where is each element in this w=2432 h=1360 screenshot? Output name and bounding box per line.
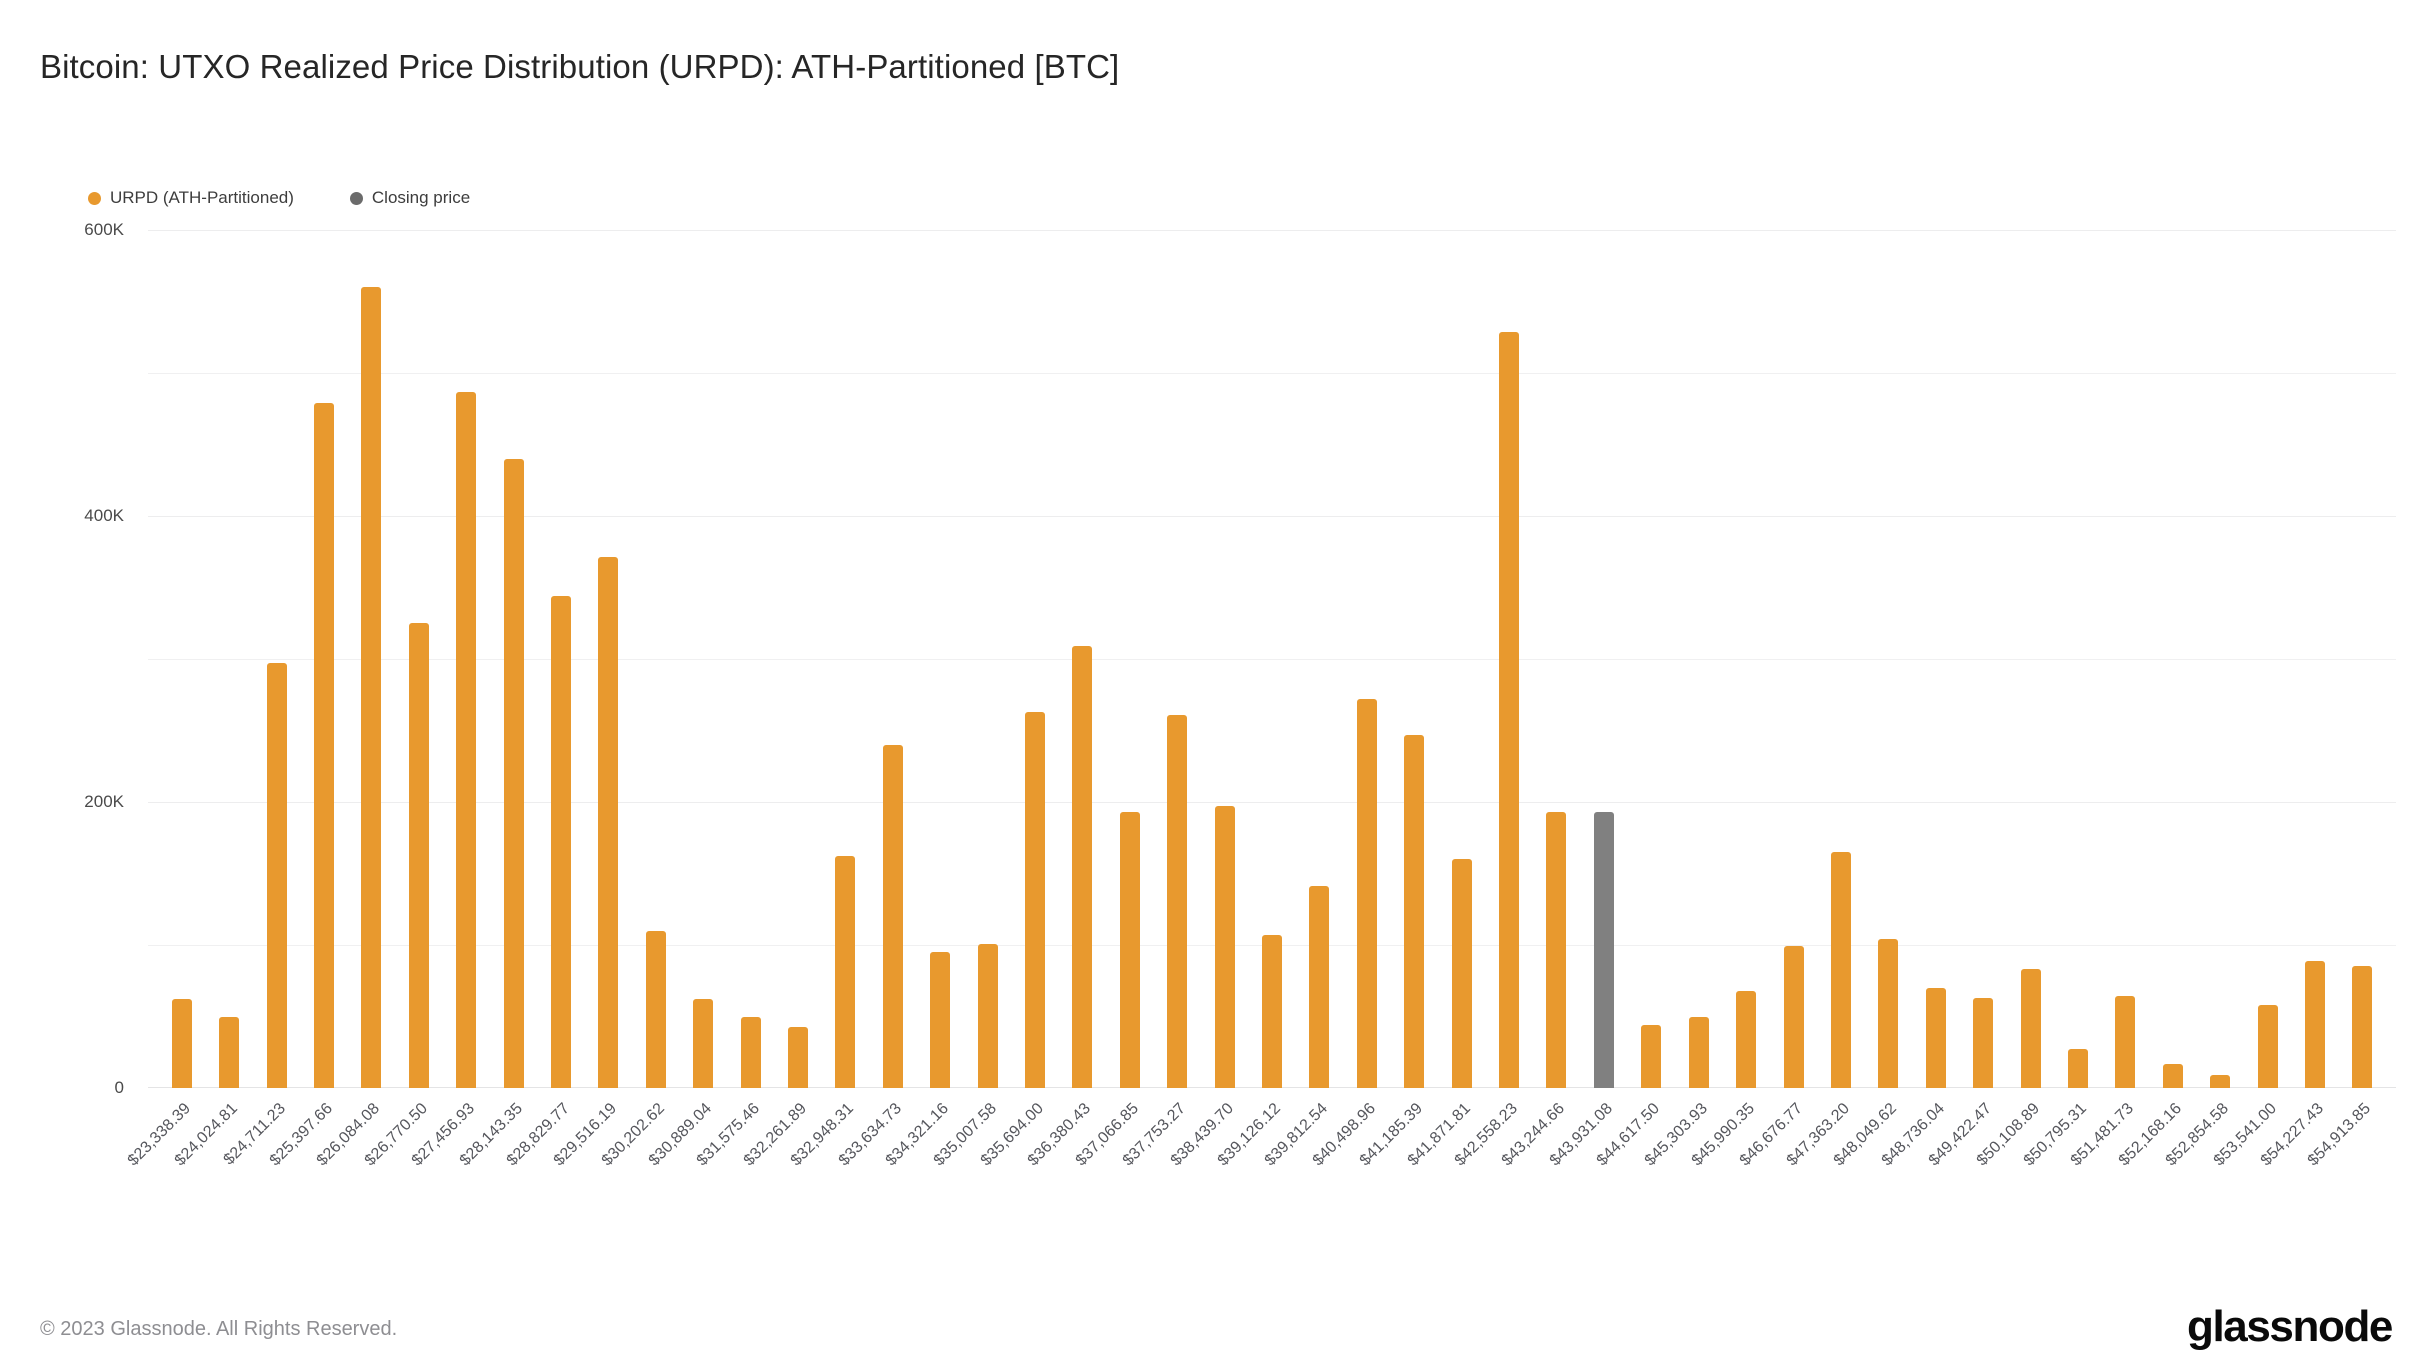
bar-urpd[interactable] [741, 1017, 761, 1089]
bar-slot [1296, 230, 1343, 1088]
bar-urpd[interactable] [409, 623, 429, 1088]
x-axis-tick: $50,108.89 [2007, 1092, 2054, 1312]
x-axis-tick: $39,812.54 [1296, 1092, 1343, 1312]
bar-slot [1343, 230, 1390, 1088]
bar-slot [1817, 230, 1864, 1088]
bar-urpd[interactable] [2352, 966, 2372, 1088]
bar-urpd[interactable] [693, 999, 713, 1088]
bar-slot [300, 230, 347, 1088]
bar-slot [1438, 230, 1485, 1088]
x-axis-tick: $47,363.20 [1817, 1092, 1864, 1312]
bar-urpd[interactable] [2258, 1005, 2278, 1088]
bar-slot [1959, 230, 2006, 1088]
y-axis-tick-label: 0 [115, 1078, 124, 1098]
bar-slot [1912, 230, 1959, 1088]
x-axis-tick: $29,516.19 [585, 1092, 632, 1312]
x-axis-tick: $43,931.08 [1580, 1092, 1627, 1312]
x-axis-tick: $35,007.58 [964, 1092, 1011, 1312]
bar-slot [2102, 230, 2149, 1088]
bar-slot [1201, 230, 1248, 1088]
x-axis-tick: $46,676.77 [1770, 1092, 1817, 1312]
legend-label-closing-price: Closing price [372, 188, 470, 208]
bar-urpd[interactable] [1973, 998, 1993, 1088]
bar-slot [2054, 230, 2101, 1088]
bar-slot [727, 230, 774, 1088]
x-axis-tick: $30,202.62 [632, 1092, 679, 1312]
x-axis-tick: $24,024.81 [205, 1092, 252, 1312]
bar-urpd[interactable] [1784, 946, 1804, 1088]
x-axis-tick: $51,481.73 [2102, 1092, 2149, 1312]
bar-urpd[interactable] [504, 459, 524, 1088]
x-axis-tick: $33,634.73 [869, 1092, 916, 1312]
x-axis-tick: $24,711.23 [253, 1092, 300, 1312]
bar-urpd[interactable] [883, 745, 903, 1088]
bar-urpd[interactable] [1926, 988, 1946, 1088]
x-axis-tick: $25,397.66 [300, 1092, 347, 1312]
bar-slot [442, 230, 489, 1088]
bar-slot [917, 230, 964, 1088]
bar-slot [632, 230, 679, 1088]
x-axis-tick: $48,049.62 [1865, 1092, 1912, 1312]
x-axis-tick: $26,770.50 [395, 1092, 442, 1312]
chart-legend: URPD (ATH-Partitioned) Closing price [88, 188, 470, 208]
bar-urpd[interactable] [456, 392, 476, 1088]
bar-slot [205, 230, 252, 1088]
bar-urpd[interactable] [1167, 715, 1187, 1088]
bar-slot [2149, 230, 2196, 1088]
bar-urpd[interactable] [1689, 1017, 1709, 1089]
bar-slot [1248, 230, 1295, 1088]
page-title: Bitcoin: UTXO Realized Price Distributio… [40, 48, 1119, 86]
legend-label-urpd: URPD (ATH-Partitioned) [110, 188, 294, 208]
x-axis-tick: $43,244.66 [1533, 1092, 1580, 1312]
x-axis-tick: $31,575.46 [727, 1092, 774, 1312]
x-axis-tick: $37,066.85 [1106, 1092, 1153, 1312]
bar-urpd[interactable] [1120, 812, 1140, 1088]
bar-urpd[interactable] [551, 596, 571, 1088]
x-axis-tick: $54,227.43 [2291, 1092, 2338, 1312]
bar-urpd[interactable] [219, 1017, 239, 1089]
bar-slot [1770, 230, 1817, 1088]
bar-closing-price[interactable] [1594, 812, 1614, 1088]
bar-slot [1628, 230, 1675, 1088]
bar-urpd[interactable] [1309, 886, 1329, 1088]
bar-urpd[interactable] [2021, 969, 2041, 1088]
bar-urpd[interactable] [314, 403, 334, 1088]
bar-slot [490, 230, 537, 1088]
bar-slot [1865, 230, 1912, 1088]
x-axis-tick: $26,084.08 [348, 1092, 395, 1312]
bar-slot [158, 230, 205, 1088]
bar-urpd[interactable] [598, 557, 618, 1088]
bar-slot [2291, 230, 2338, 1088]
bar-urpd[interactable] [1736, 991, 1756, 1088]
bar-slot [1391, 230, 1438, 1088]
x-axis-tick: $42,558.23 [1485, 1092, 1532, 1312]
bar-urpd[interactable] [646, 931, 666, 1088]
x-axis-tick: $23,338.39 [158, 1092, 205, 1312]
bar-urpd[interactable] [1404, 735, 1424, 1088]
x-axis-tick: $44,617.50 [1628, 1092, 1675, 1312]
x-axis-tick: $27,456.93 [442, 1092, 489, 1312]
x-axis-tick: $28,143.35 [490, 1092, 537, 1312]
x-axis-tick: $45,303.93 [1675, 1092, 1722, 1312]
bar-urpd[interactable] [1357, 699, 1377, 1088]
bar-slot [2339, 230, 2386, 1088]
bar-series [148, 230, 2396, 1088]
x-axis-tick: $52,854.58 [2196, 1092, 2243, 1312]
bar-urpd[interactable] [1025, 712, 1045, 1088]
bar-urpd[interactable] [1262, 935, 1282, 1088]
x-axis-tick: $48,736.04 [1912, 1092, 1959, 1312]
x-axis-tick: $40,498.96 [1343, 1092, 1390, 1312]
bar-urpd[interactable] [1499, 332, 1519, 1088]
x-axis-tick: $52,168.16 [2149, 1092, 2196, 1312]
bar-urpd[interactable] [1072, 646, 1092, 1088]
bar-urpd[interactable] [2305, 961, 2325, 1088]
bar-urpd[interactable] [1878, 939, 1898, 1088]
bar-slot [1533, 230, 1580, 1088]
bar-urpd[interactable] [1452, 859, 1472, 1088]
bar-urpd[interactable] [2163, 1064, 2183, 1088]
x-axis-tick: $54,913.85 [2339, 1092, 2386, 1312]
y-axis-tick-label: 200K [84, 792, 124, 812]
brand-logo: glassnode [2187, 1302, 2392, 1352]
bar-urpd[interactable] [2068, 1049, 2088, 1088]
bar-urpd[interactable] [788, 1027, 808, 1088]
x-axis-tick: $39,126.12 [1248, 1092, 1295, 1312]
legend-dot-icon [88, 192, 101, 205]
bar-slot [869, 230, 916, 1088]
x-axis-tick: $53,541.00 [2244, 1092, 2291, 1312]
x-axis-tick: $28,829.77 [537, 1092, 584, 1312]
bar-slot [774, 230, 821, 1088]
bar-slot [2196, 230, 2243, 1088]
bar-slot [2244, 230, 2291, 1088]
x-axis: $23,338.39$24,024.81$24,711.23$25,397.66… [148, 1092, 2396, 1312]
x-axis-tick: $38,439.70 [1201, 1092, 1248, 1312]
bar-slot [1580, 230, 1627, 1088]
legend-item-urpd[interactable]: URPD (ATH-Partitioned) [88, 188, 294, 208]
legend-item-closing-price[interactable]: Closing price [350, 188, 470, 208]
x-axis-tick: $30,889.04 [679, 1092, 726, 1312]
x-axis-tick: $50,795.31 [2054, 1092, 2101, 1312]
bar-slot [1011, 230, 1058, 1088]
footer-copyright: © 2023 Glassnode. All Rights Reserved. [40, 1318, 397, 1341]
x-axis-tick: $41,185.39 [1391, 1092, 1438, 1312]
bar-slot [1722, 230, 1769, 1088]
bar-slot [348, 230, 395, 1088]
bar-urpd[interactable] [835, 856, 855, 1088]
x-axis-tick: $45,990.35 [1722, 1092, 1769, 1312]
bar-urpd[interactable] [1641, 1025, 1661, 1088]
x-axis-tick: $32,948.31 [822, 1092, 869, 1312]
bar-slot [1059, 230, 1106, 1088]
x-axis-tick: $34,321.16 [917, 1092, 964, 1312]
x-axis-tick: $32,261.89 [774, 1092, 821, 1312]
y-axis: 0200K400K600K [0, 230, 138, 1088]
x-axis-tick: $36,380.43 [1059, 1092, 1106, 1312]
bar-urpd[interactable] [1831, 852, 1851, 1088]
bar-urpd[interactable] [1546, 812, 1566, 1088]
bar-slot [679, 230, 726, 1088]
x-axis-tick: $35,694.00 [1011, 1092, 1058, 1312]
x-axis-tick: $49,422.47 [1959, 1092, 2006, 1312]
legend-dot-icon [350, 192, 363, 205]
y-axis-tick-label: 600K [84, 220, 124, 240]
bar-slot [822, 230, 869, 1088]
x-axis-tick: $37,753.27 [1154, 1092, 1201, 1312]
bar-urpd[interactable] [930, 952, 950, 1088]
bar-slot [1154, 230, 1201, 1088]
bar-urpd[interactable] [978, 944, 998, 1088]
bar-slot [395, 230, 442, 1088]
bar-urpd[interactable] [2115, 996, 2135, 1088]
bar-slot [1675, 230, 1722, 1088]
bar-slot [585, 230, 632, 1088]
bar-urpd[interactable] [172, 999, 192, 1088]
bar-urpd[interactable] [2210, 1075, 2230, 1088]
plot-area [148, 230, 2396, 1088]
bar-slot [1106, 230, 1153, 1088]
y-axis-tick-label: 400K [84, 506, 124, 526]
bar-slot [1485, 230, 1532, 1088]
bar-slot [537, 230, 584, 1088]
x-axis-tick: $41,871.81 [1438, 1092, 1485, 1312]
bar-urpd[interactable] [267, 663, 287, 1088]
bar-urpd[interactable] [1215, 806, 1235, 1088]
bar-slot [253, 230, 300, 1088]
bar-slot [964, 230, 1011, 1088]
bar-urpd[interactable] [361, 287, 381, 1088]
bar-slot [2007, 230, 2054, 1088]
